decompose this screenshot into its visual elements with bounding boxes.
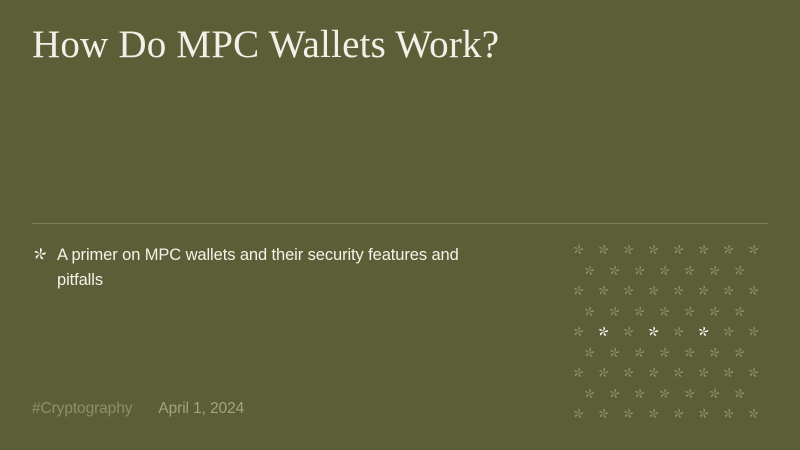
pinwheel-icon: [658, 387, 671, 400]
pinwheel-icon: [597, 407, 610, 420]
pinwheel-icon: [583, 387, 596, 400]
pinwheel-icon: [683, 264, 696, 277]
pattern-row: [572, 325, 776, 339]
page-title: How Do MPC Wallets Work?: [32, 22, 732, 68]
pinwheel-icon: [722, 366, 735, 379]
pinwheel-icon: [597, 284, 610, 297]
pinwheel-icon: [32, 246, 48, 262]
pinwheel-icon: [722, 325, 735, 338]
pinwheel-icon: [597, 366, 610, 379]
pinwheel-icon: [683, 346, 696, 359]
pinwheel-icon: [658, 346, 671, 359]
pinwheel-icon: [647, 407, 660, 420]
pinwheel-icon: [633, 305, 646, 318]
decorative-pinwheel-pattern: [572, 243, 776, 423]
pinwheel-icon: [647, 366, 660, 379]
pinwheel-icon: [672, 407, 685, 420]
pinwheel-icon: [672, 366, 685, 379]
pinwheel-icon: [672, 243, 685, 256]
pinwheel-icon: [583, 305, 596, 318]
footer: #Cryptography April 1, 2024: [32, 400, 244, 418]
pinwheel-icon: [733, 264, 746, 277]
pinwheel-icon: [747, 243, 760, 256]
pinwheel-icon: [597, 243, 610, 256]
pinwheel-icon: [608, 346, 621, 359]
pinwheel-icon: [697, 366, 710, 379]
pinwheel-icon: [697, 284, 710, 297]
pattern-row: [583, 346, 787, 360]
pinwheel-icon: [697, 407, 710, 420]
pinwheel-icon: [747, 325, 760, 338]
footer-date: April 1, 2024: [158, 400, 244, 418]
pinwheel-icon: [608, 387, 621, 400]
pattern-row: [572, 366, 776, 380]
pinwheel-icon: [708, 387, 721, 400]
pattern-row: [572, 284, 776, 298]
footer-topic-tag: #Cryptography: [32, 400, 132, 418]
pinwheel-icon: [658, 264, 671, 277]
horizontal-divider: [32, 223, 768, 224]
pattern-row: [572, 243, 776, 257]
pinwheel-icon: [622, 366, 635, 379]
pinwheel-icon: [683, 305, 696, 318]
pinwheel-icon: [647, 243, 660, 256]
pinwheel-icon: [708, 305, 721, 318]
pinwheel-icon: [722, 407, 735, 420]
pattern-row: [583, 264, 787, 278]
pinwheel-icon: [733, 346, 746, 359]
pinwheel-icon: [747, 366, 760, 379]
pinwheel-icon: [672, 284, 685, 297]
pinwheel-icon: [733, 387, 746, 400]
subtitle-row: A primer on MPC wallets and their securi…: [32, 243, 532, 293]
pinwheel-icon: [697, 243, 710, 256]
pinwheel-icon: [633, 346, 646, 359]
pinwheel-icon: [633, 387, 646, 400]
pinwheel-icon: [608, 305, 621, 318]
pinwheel-icon: [572, 325, 585, 338]
pinwheel-icon: [583, 346, 596, 359]
pinwheel-icon: [572, 366, 585, 379]
pinwheel-icon: [747, 407, 760, 420]
pinwheel-icon: [708, 346, 721, 359]
pinwheel-icon: [622, 243, 635, 256]
pattern-row: [583, 305, 787, 319]
pinwheel-icon: [733, 305, 746, 318]
pinwheel-icon: [572, 284, 585, 297]
pinwheel-icon: [708, 264, 721, 277]
pinwheel-icon-highlighted: [647, 325, 660, 338]
pinwheel-icon: [608, 264, 621, 277]
subtitle-text: A primer on MPC wallets and their securi…: [57, 243, 489, 293]
pinwheel-icon: [622, 407, 635, 420]
pinwheel-icon: [683, 387, 696, 400]
pinwheel-icon: [583, 264, 596, 277]
pinwheel-icon: [722, 284, 735, 297]
pinwheel-icon: [572, 243, 585, 256]
pinwheel-icon: [647, 284, 660, 297]
presentation-slide: How Do MPC Wallets Work? A primer on MPC…: [0, 0, 800, 450]
pinwheel-icon: [622, 325, 635, 338]
pinwheel-icon-highlighted: [597, 325, 610, 338]
pinwheel-icon: [622, 284, 635, 297]
pattern-row: [583, 387, 787, 401]
pinwheel-icon-highlighted: [697, 325, 710, 338]
pinwheel-icon: [722, 243, 735, 256]
pinwheel-icon: [633, 264, 646, 277]
pinwheel-icon: [572, 407, 585, 420]
pinwheel-icon: [672, 325, 685, 338]
pinwheel-icon: [658, 305, 671, 318]
pinwheel-icon: [747, 284, 760, 297]
pattern-row: [572, 407, 776, 421]
